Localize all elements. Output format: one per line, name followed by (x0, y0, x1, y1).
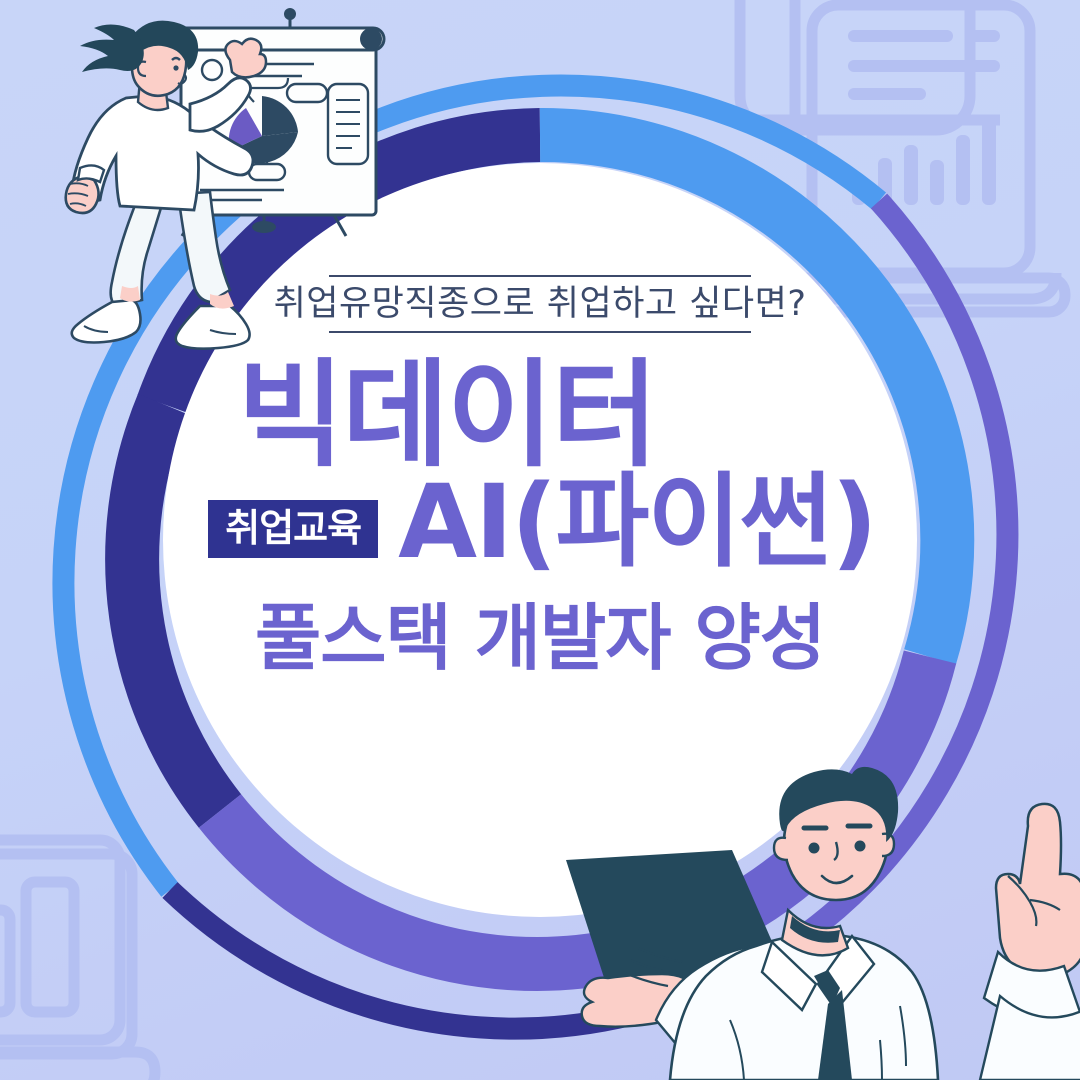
woman-presenting-at-board-illustration (14, 8, 394, 368)
man-head-icon (774, 767, 898, 900)
pointing-hand-icon (980, 804, 1080, 1080)
poster-canvas: 취업유망직종으로 취업하고 싶다면? 빅데이터 취업교육 AI(파이썬) 풀스택… (0, 0, 1080, 1080)
man-holding-laptop-illustration (560, 720, 1080, 1080)
